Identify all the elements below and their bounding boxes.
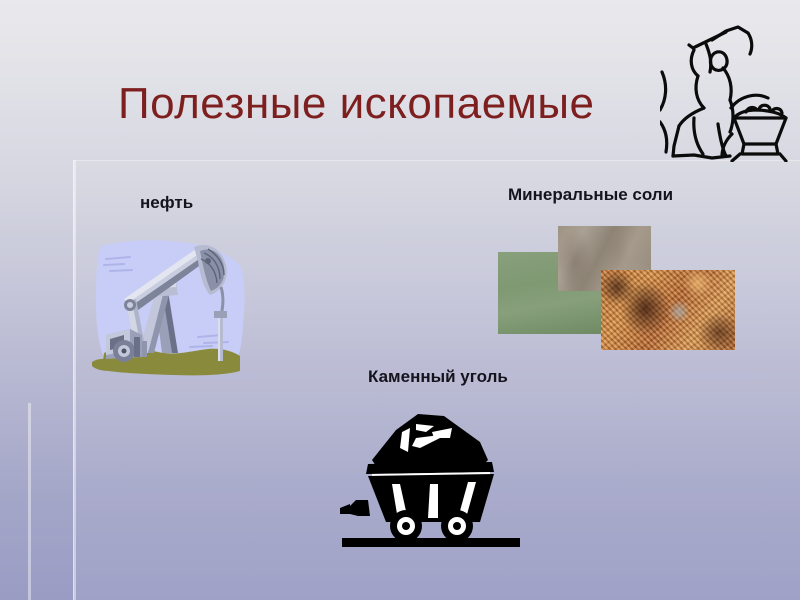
- mineral-photo-orange-crystal: [601, 270, 735, 350]
- item-label-mineral-salts: Минеральные соли: [508, 185, 673, 205]
- oil-pumpjack-illustration: [90, 225, 255, 385]
- item-label-coal: Каменный уголь: [368, 367, 508, 387]
- accent-bar-short: [28, 403, 31, 600]
- item-label-oil: нефть: [140, 193, 193, 213]
- slide-canvas: Полезные ископаемые: [0, 0, 800, 600]
- page-title: Полезные ископаемые: [118, 81, 678, 127]
- coal-mine-cart-illustration: [332, 404, 532, 554]
- miner-with-pickaxe-icon: [660, 14, 788, 162]
